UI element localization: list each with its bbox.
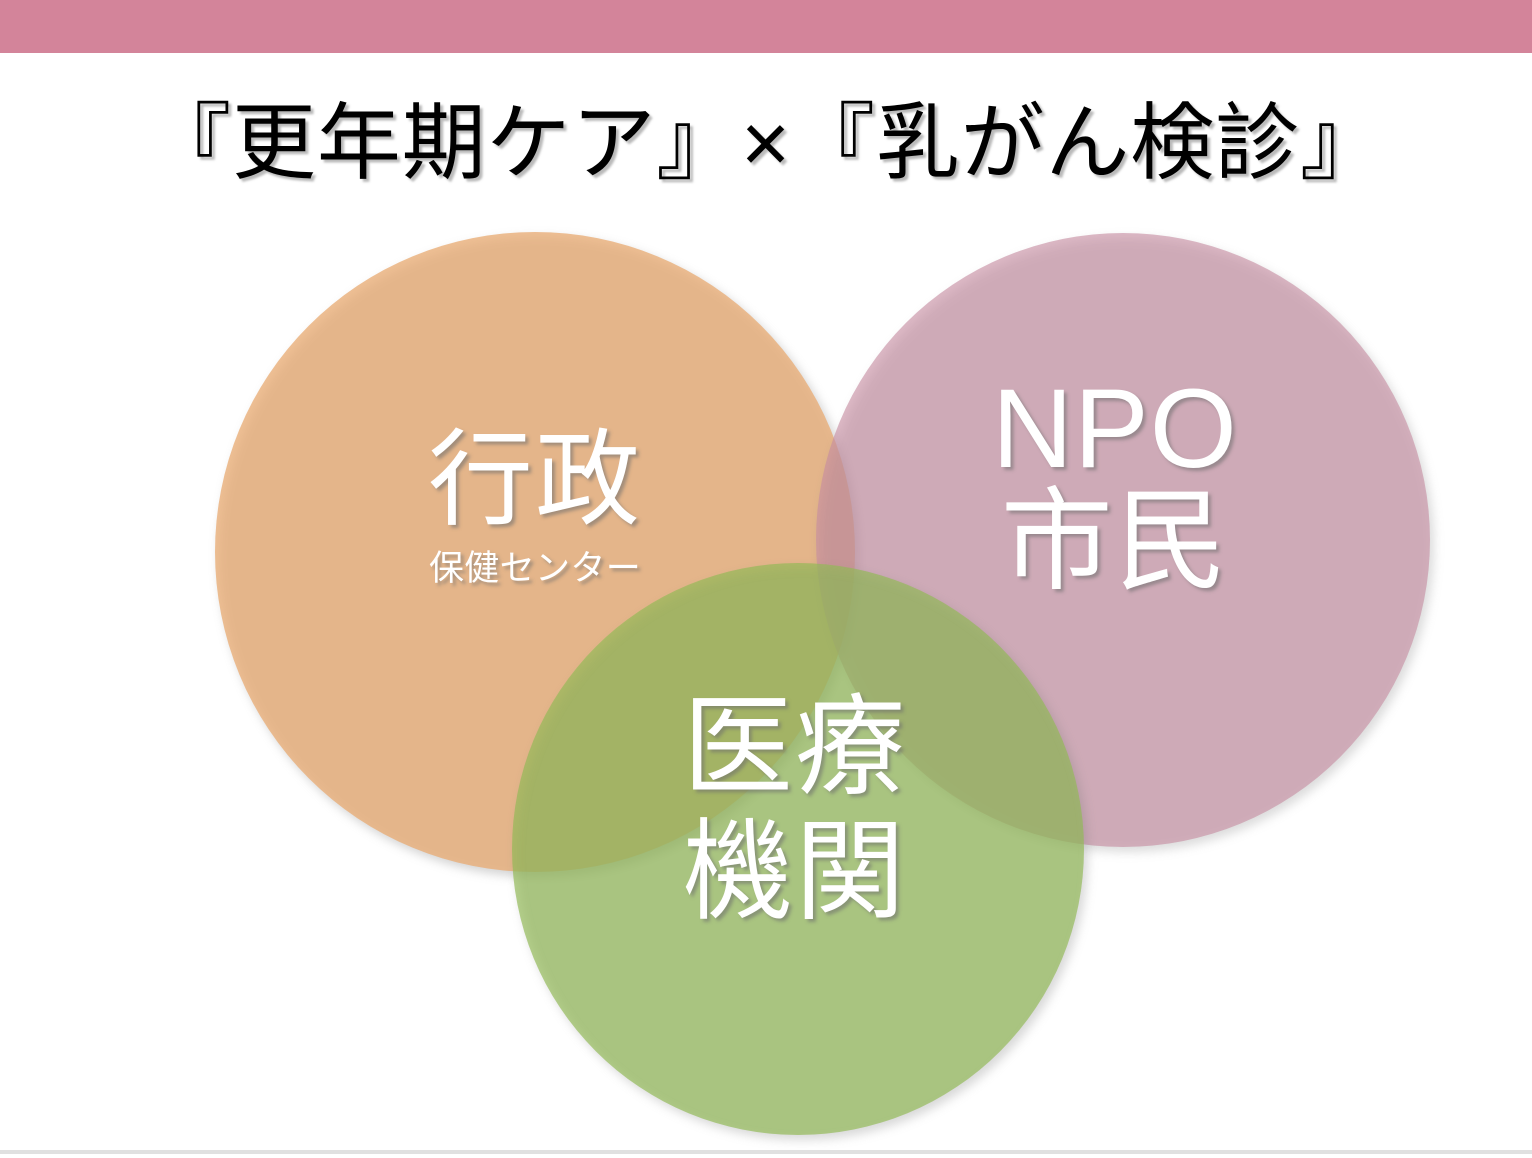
venn-label-medical-line1: 医療 — [595, 690, 995, 807]
venn-label-npo-citizens: NPO 市民 — [900, 370, 1330, 601]
venn-label-administration-main: 行政 — [300, 425, 770, 536]
bottom-divider — [0, 1150, 1532, 1154]
venn-label-administration: 行政 保健センター — [300, 425, 770, 587]
venn-label-administration-sub: 保健センター — [300, 550, 770, 587]
venn-diagram: 行政 保健センター NPO 市民 医療 機関 — [0, 0, 1532, 1158]
venn-label-npo-line1: NPO — [900, 370, 1330, 489]
venn-label-medical-institutions: 医療 機関 — [595, 690, 995, 931]
venn-label-medical-line2: 機関 — [595, 815, 995, 932]
slide-canvas: 『更年期ケア』×『乳がん検診』 行政 保健センター NPO 市民 医療 機関 — [0, 0, 1532, 1158]
venn-label-npo-line2: 市民 — [900, 483, 1330, 602]
